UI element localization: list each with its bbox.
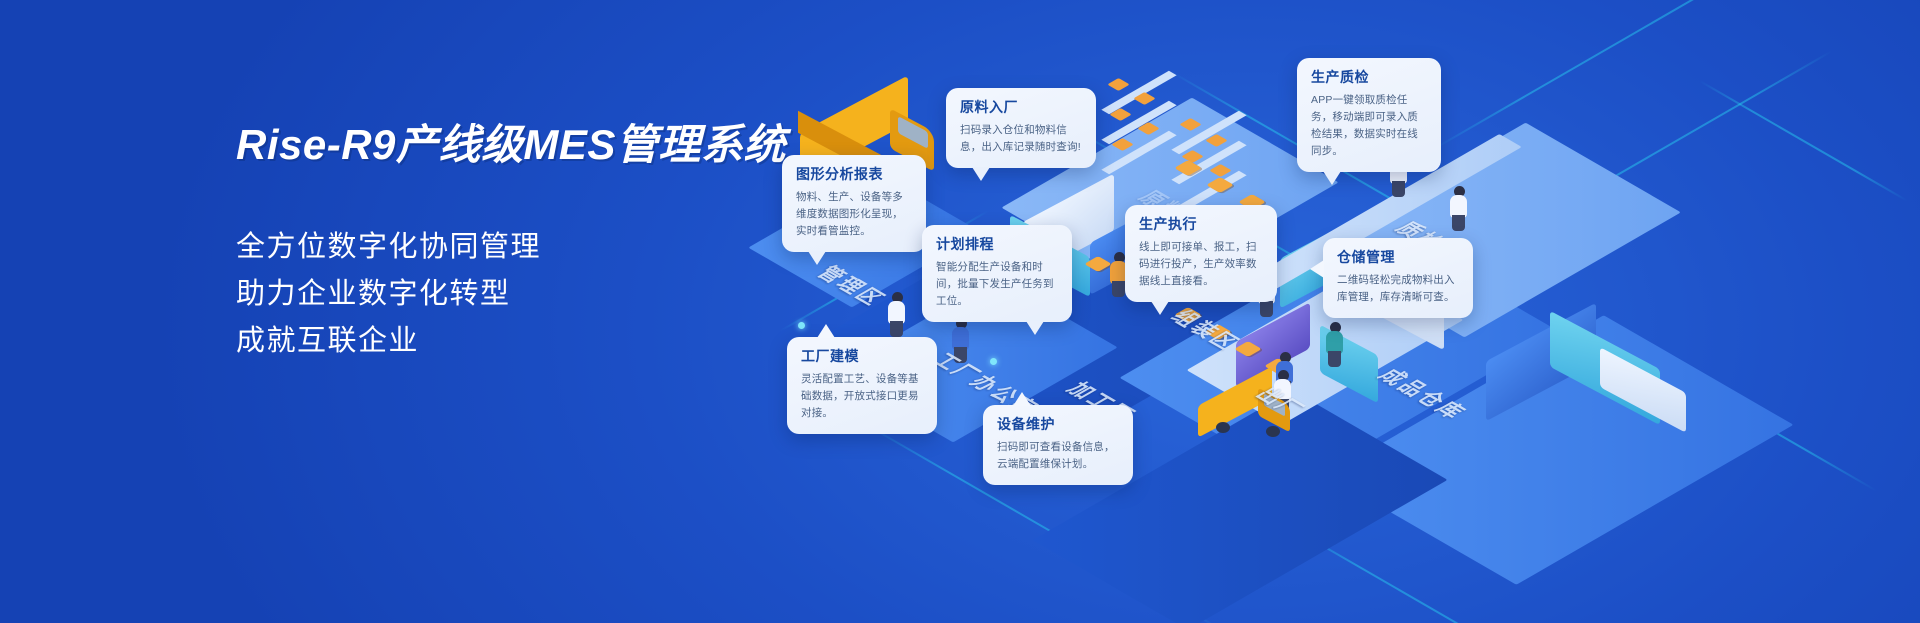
card-title: 计划排程 — [936, 236, 1058, 253]
person-assembler — [1324, 322, 1348, 368]
card-tail — [1310, 260, 1324, 278]
person-qc-2 — [1448, 186, 1472, 232]
card-title: 工厂建模 — [801, 348, 923, 365]
callout-card-equipment-maintenance[interactable]: 设备维护 扫码即可查看设备信息，云端配置维保计划。 — [983, 405, 1133, 485]
card-body: 二维码轻松完成物料出入库管理，库存清晰可查。 — [1337, 272, 1459, 306]
card-title: 原料入厂 — [960, 99, 1082, 116]
card-title: 仓储管理 — [1337, 249, 1459, 266]
card-body: 扫码录入仓位和物料信息，出入库记录随时查询! — [960, 122, 1082, 156]
card-tail — [808, 251, 826, 265]
callout-card-graphic-analysis-report[interactable]: 图形分析报表 物料、生产、设备等多维度数据图形化呈现，实时看管监控。 — [782, 155, 926, 252]
card-title: 生产质检 — [1311, 69, 1427, 86]
callout-card-production-execution[interactable]: 生产执行 线上即可接单、报工，扫码进行投产，生产效率数据线上直接看。 — [1125, 205, 1277, 302]
card-body: 扫码即可查看设备信息，云端配置维保计划。 — [997, 439, 1119, 473]
callout-card-production-quality-inspection[interactable]: 生产质检 APP一键领取质检任务，移动端即可录入质检结果，数据实时在线同步。 — [1297, 58, 1441, 172]
card-title: 设备维护 — [997, 416, 1119, 433]
mes-hero-banner: Rise-R9产线级MES管理系统 全方位数字化协同管理 助力企业数字化转型 成… — [0, 0, 1920, 623]
card-body: 线上即可接单、报工，扫码进行投产，生产效率数据线上直接看。 — [1139, 239, 1263, 290]
connector-dot-2 — [990, 358, 997, 365]
card-body: 物料、生产、设备等多维度数据图形化呈现，实时看管监控。 — [796, 189, 912, 240]
card-body: APP一键领取质检任务，移动端即可录入质检结果，数据实时在线同步。 — [1311, 92, 1427, 160]
card-tail — [1026, 321, 1044, 335]
card-title: 生产执行 — [1139, 216, 1263, 233]
card-tail — [1013, 392, 1031, 406]
card-title: 图形分析报表 — [796, 166, 912, 183]
card-body: 智能分配生产设备和时间，批量下发生产任务到工位。 — [936, 259, 1058, 310]
callout-card-raw-material-inbound[interactable]: 原料入厂 扫码录入仓位和物料信息，出入库记录随时查询! — [946, 88, 1096, 168]
person-office-1 — [886, 292, 910, 338]
card-tail — [1151, 301, 1169, 315]
card-body: 灵活配置工艺、设备等基础数据，开放式接口更易对接。 — [801, 371, 923, 422]
card-tail — [817, 324, 835, 338]
callout-card-plan-scheduling[interactable]: 计划排程 智能分配生产设备和时间，批量下发生产任务到工位。 — [922, 225, 1072, 322]
card-tail — [1323, 171, 1341, 185]
connector-dot-1 — [798, 322, 805, 329]
card-tail — [972, 167, 990, 181]
callout-card-factory-modeling[interactable]: 工厂建模 灵活配置工艺、设备等基础数据，开放式接口更易对接。 — [787, 337, 937, 434]
callout-card-warehouse-management[interactable]: 仓储管理 二维码轻松完成物料出入库管理，库存清晰可查。 — [1323, 238, 1473, 318]
